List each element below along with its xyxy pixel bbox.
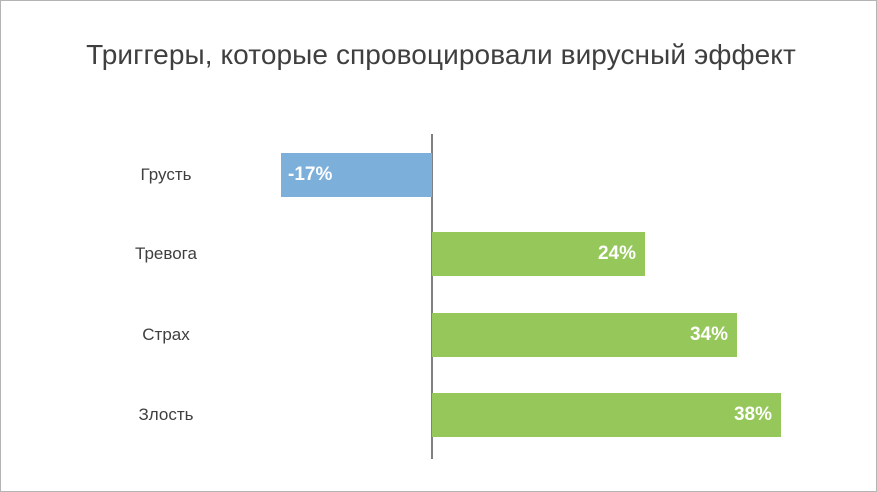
category-label-trevoga: Тревога bbox=[76, 232, 256, 276]
bar-value-strah: 34% bbox=[690, 313, 728, 357]
bar-row: Грусть -17% bbox=[1, 153, 877, 197]
bar-value-zlost: 38% bbox=[734, 393, 772, 437]
bar-row: Страх 34% bbox=[1, 313, 877, 357]
chart-slide: Триггеры, которые спровоцировали вирусны… bbox=[0, 0, 877, 492]
bar-trevoga[interactable]: 24% bbox=[432, 232, 645, 276]
bar-row: Тревога 24% bbox=[1, 232, 877, 276]
bar-value-trevoga: 24% bbox=[598, 232, 636, 276]
bar-strah[interactable]: 34% bbox=[432, 313, 737, 357]
bar-zlost[interactable]: 38% bbox=[432, 393, 781, 437]
bar-row: Злость 38% bbox=[1, 393, 877, 437]
category-label-strah: Страх bbox=[76, 313, 256, 357]
bar-value-grust: -17% bbox=[288, 153, 332, 197]
bar-grust[interactable]: -17% bbox=[281, 153, 432, 197]
plot-area: Грусть -17% Тревога 24% Страх 34% Злость… bbox=[1, 1, 877, 492]
category-label-grust: Грусть bbox=[76, 153, 256, 197]
category-label-zlost: Злость bbox=[76, 393, 256, 437]
